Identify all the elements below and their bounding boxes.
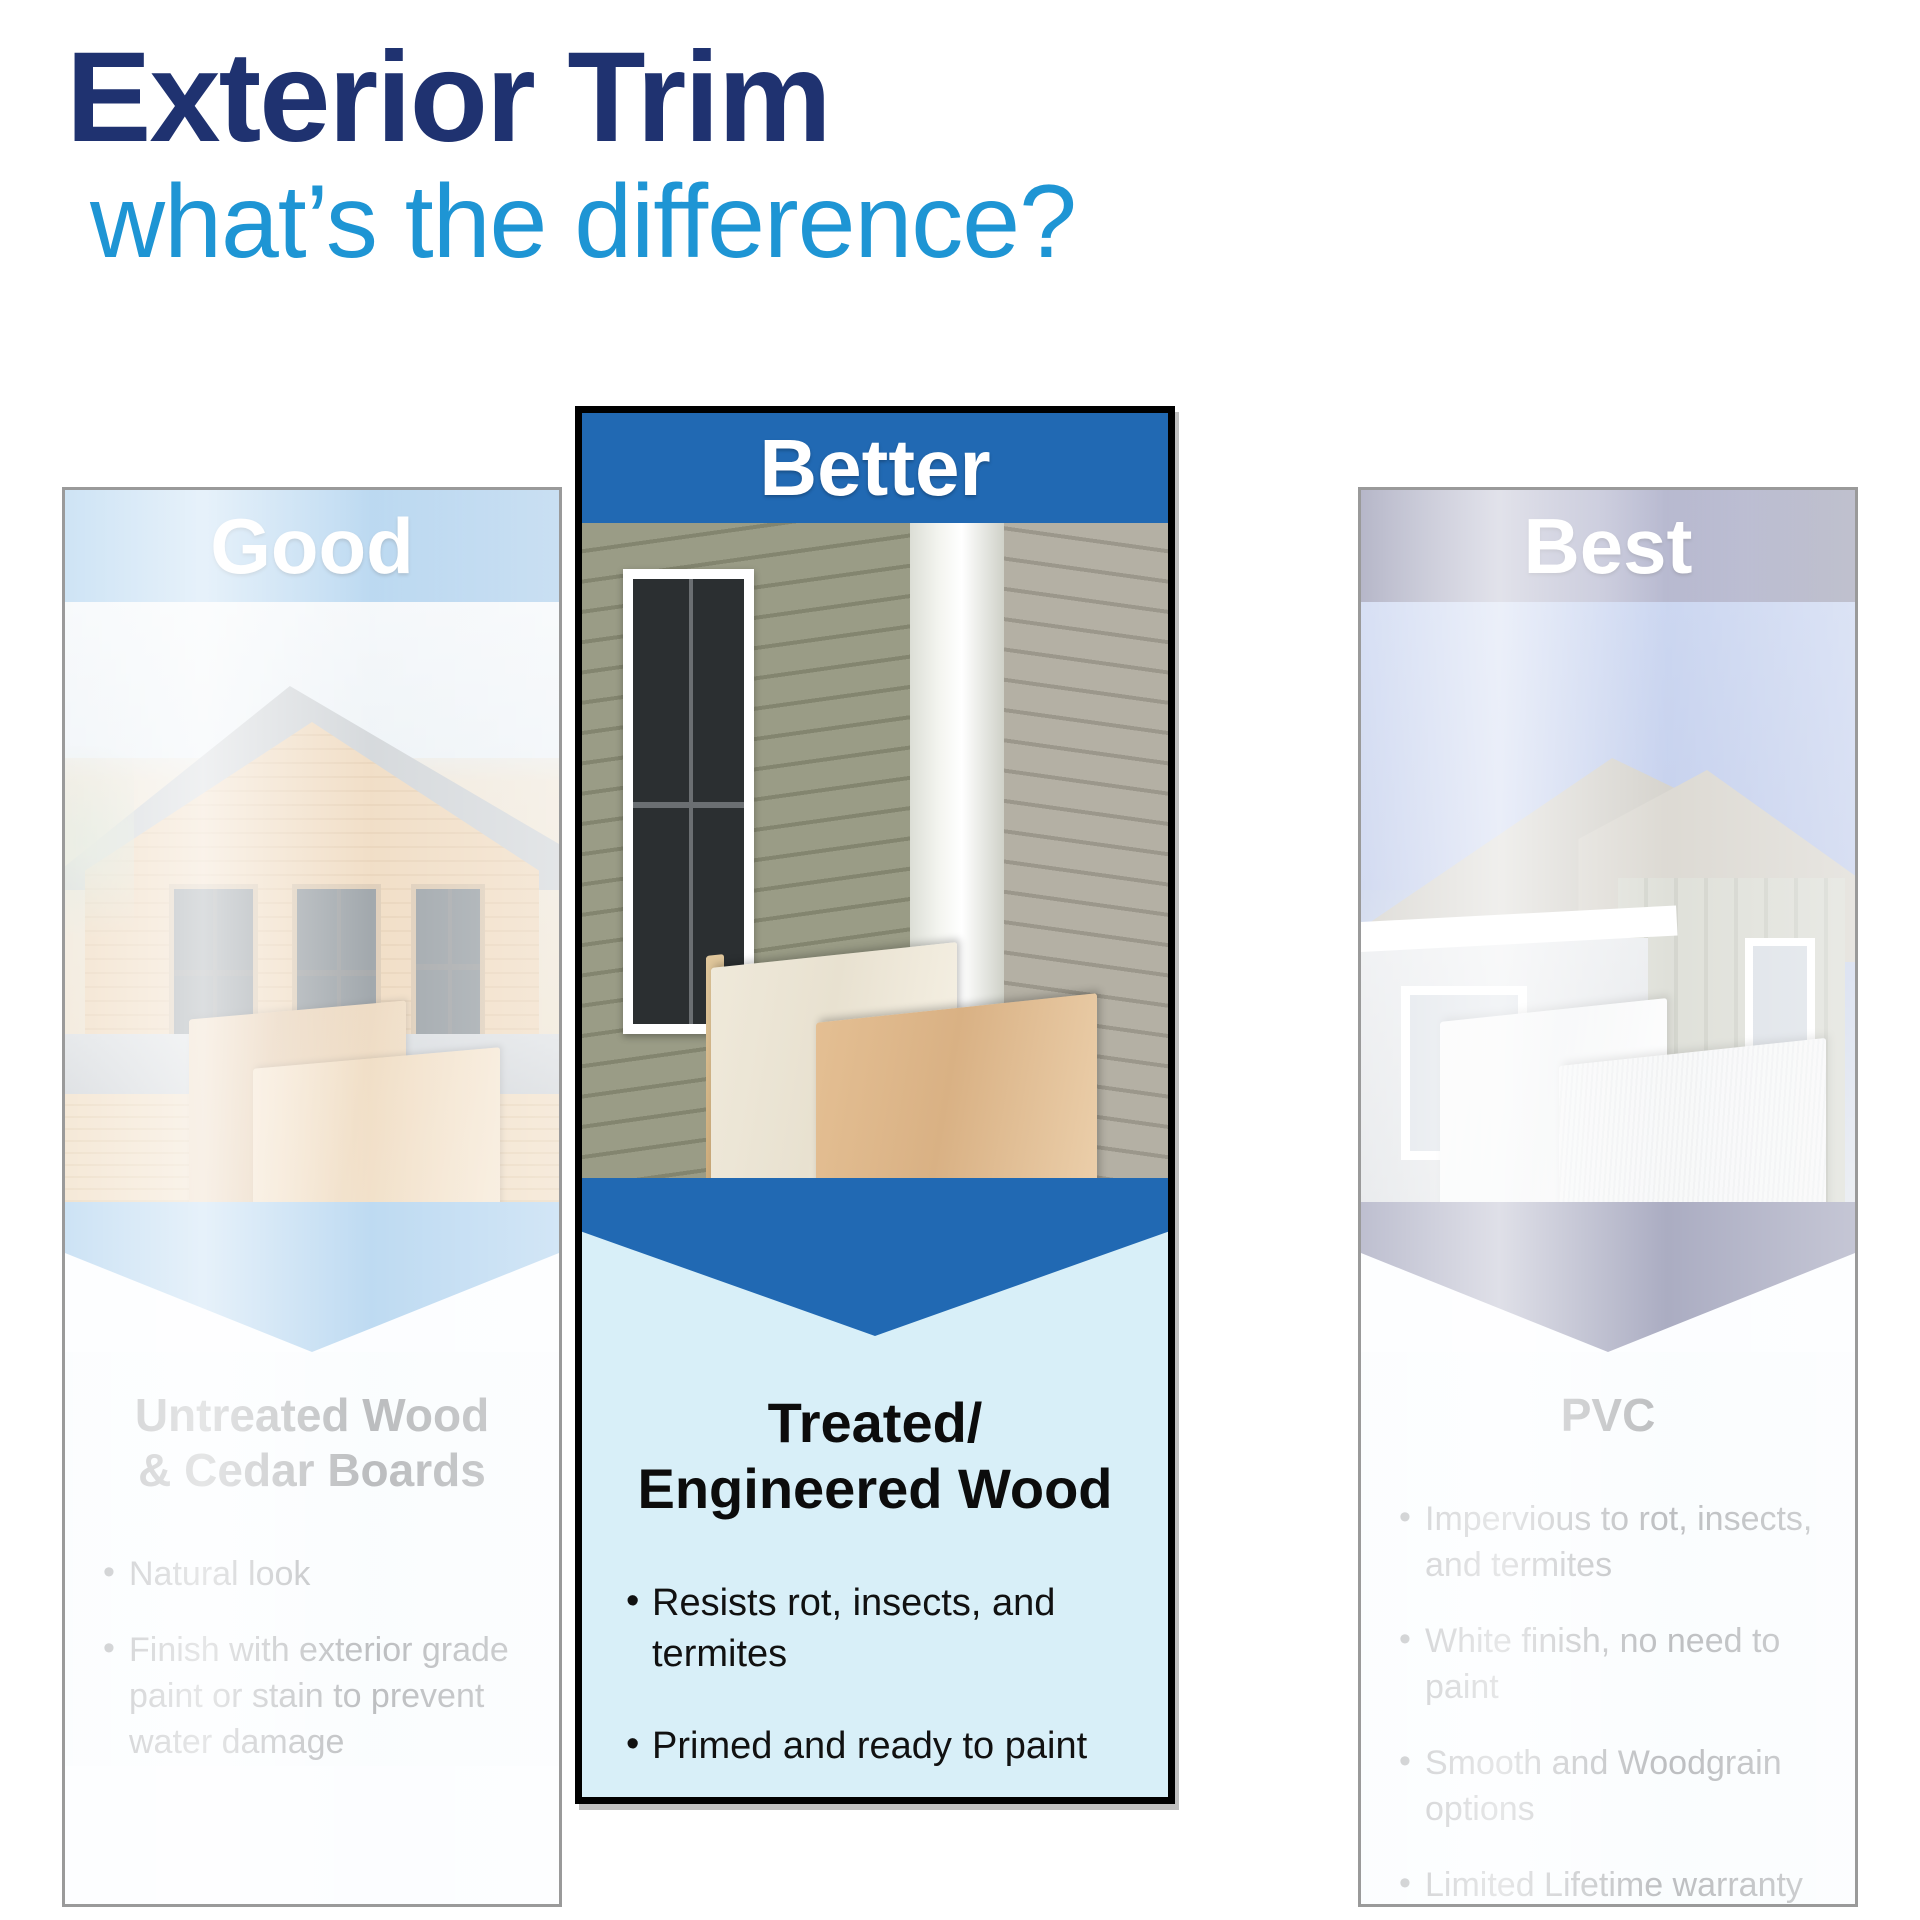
- product-board-engineered-tan: [816, 993, 1097, 1178]
- list-item: Limited Lifetime warranty: [1395, 1863, 1821, 1907]
- chevron-divider-best: [1361, 1202, 1855, 1352]
- card-photo-good: [65, 602, 559, 1202]
- photo-window: [411, 884, 485, 1044]
- chevron-divider-good: [65, 1202, 559, 1352]
- chevron-divider-better: [582, 1178, 1168, 1336]
- comparison-card-best[interactable]: Best PVC Impervious to rot, insects, and…: [1358, 487, 1858, 1907]
- rank-label-best: Best: [1523, 501, 1692, 592]
- photo-tree: [65, 746, 134, 986]
- rank-label-good: Good: [210, 501, 414, 592]
- card-title-line1: PVC: [1561, 1389, 1656, 1441]
- comparison-card-good[interactable]: Good Untreated Wood & Cedar Boards Natur…: [62, 487, 562, 1907]
- card-rank-header-best: Best: [1361, 490, 1855, 602]
- feature-list-better: Resists rot, insects, and termites Prime…: [622, 1578, 1128, 1804]
- list-item: White finish, no need to paint: [1395, 1619, 1821, 1711]
- card-body-best: PVC Impervious to rot, insects, and term…: [1361, 1352, 1855, 1907]
- card-title-best: PVC: [1395, 1388, 1821, 1443]
- card-body-better: Treated/ Engineered Wood Resists rot, in…: [582, 1336, 1168, 1804]
- rank-label-better: Better: [759, 422, 990, 514]
- list-item: Primed and ready to paint: [622, 1721, 1128, 1772]
- list-item: Smooth and Woodgrain options: [1395, 1741, 1821, 1833]
- feature-list-best: Impervious to rot, insects, and termites…: [1395, 1497, 1821, 1907]
- card-title-better: Treated/ Engineered Wood: [622, 1390, 1128, 1522]
- photo-window-mullion: [633, 802, 744, 808]
- card-body-good: Untreated Wood & Cedar Boards Natural lo…: [65, 1352, 559, 1766]
- card-title-line1: Treated/: [768, 1391, 983, 1454]
- list-item: Natural look: [99, 1552, 525, 1598]
- card-title-line2: & Cedar Boards: [138, 1444, 486, 1496]
- card-rank-header-good: Good: [65, 490, 559, 602]
- comparison-card-better[interactable]: Better Treated/ Engineered Wood Resists …: [575, 406, 1175, 1804]
- card-title-line2: Engineered Wood: [638, 1457, 1113, 1520]
- card-photo-better: [582, 523, 1168, 1178]
- list-item: Impervious to rot, insects, and termites: [1395, 1497, 1821, 1589]
- page-title: Exterior Trim: [66, 34, 1666, 162]
- list-item: Finish with exterior grade paint or stai…: [99, 1628, 525, 1766]
- card-photo-best: [1361, 602, 1855, 1202]
- card-title-line1: Untreated Wood: [135, 1389, 489, 1441]
- feature-list-good: Natural look Finish with exterior grade …: [99, 1552, 525, 1766]
- list-item: Resists rot, insects, and termites: [622, 1578, 1128, 1681]
- product-board-pvc-woodgrain: [1559, 1038, 1826, 1202]
- card-title-good: Untreated Wood & Cedar Boards: [99, 1388, 525, 1498]
- page-header: Exterior Trim what’s the difference?: [66, 34, 1666, 277]
- card-rank-header-better: Better: [582, 413, 1168, 523]
- product-board-cedar-2: [253, 1047, 500, 1202]
- page-subtitle: what’s the difference?: [90, 168, 1666, 277]
